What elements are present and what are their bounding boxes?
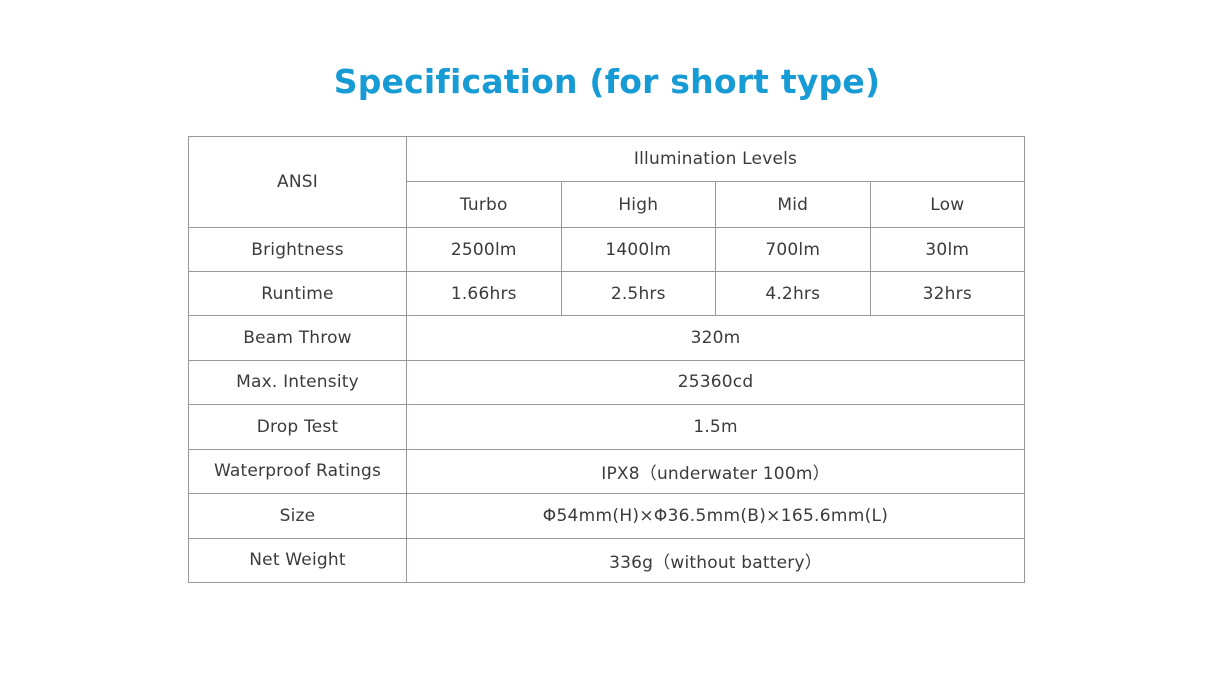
specification-page: Specification (for short type) ANSI Illu… — [0, 0, 1214, 683]
runtime-mid: 4.2hrs — [716, 272, 871, 316]
row-label-brightness: Brightness — [189, 228, 407, 272]
value-waterproof-ratings: IPX8（underwater 100m） — [407, 449, 1025, 494]
table-row: Brightness 2500lm 1400lm 700lm 30lm — [189, 228, 1025, 272]
value-net-weight: 336g（without battery） — [407, 538, 1025, 583]
table-row: ANSI Illumination Levels — [189, 137, 1025, 182]
page-title: Specification (for short type) — [0, 62, 1214, 101]
row-label-drop-test: Drop Test — [189, 405, 407, 450]
runtime-high: 2.5hrs — [561, 272, 716, 316]
brightness-high: 1400lm — [561, 228, 716, 272]
row-label-size: Size — [189, 494, 407, 539]
row-label-waterproof-ratings: Waterproof Ratings — [189, 449, 407, 494]
row-label-max-intensity: Max. Intensity — [189, 360, 407, 405]
table-row: Size Φ54mm(H)×Φ36.5mm(B)×165.6mm(L) — [189, 494, 1025, 539]
row-label-net-weight: Net Weight — [189, 538, 407, 583]
ansi-header-cell: ANSI — [189, 137, 407, 228]
level-header-turbo: Turbo — [407, 182, 562, 228]
brightness-low: 30lm — [870, 228, 1025, 272]
row-label-beam-throw: Beam Throw — [189, 316, 407, 361]
brightness-mid: 700lm — [716, 228, 871, 272]
value-size: Φ54mm(H)×Φ36.5mm(B)×165.6mm(L) — [407, 494, 1025, 539]
value-max-intensity: 25360cd — [407, 360, 1025, 405]
table-row: Beam Throw 320m — [189, 316, 1025, 361]
runtime-low: 32hrs — [870, 272, 1025, 316]
table-row: Net Weight 336g（without battery） — [189, 538, 1025, 583]
table-row: Drop Test 1.5m — [189, 405, 1025, 450]
specification-table: ANSI Illumination Levels Turbo High Mid … — [188, 136, 1025, 583]
value-beam-throw: 320m — [407, 316, 1025, 361]
level-header-mid: Mid — [716, 182, 871, 228]
level-header-low: Low — [870, 182, 1025, 228]
level-header-high: High — [561, 182, 716, 228]
brightness-turbo: 2500lm — [407, 228, 562, 272]
row-label-runtime: Runtime — [189, 272, 407, 316]
value-drop-test: 1.5m — [407, 405, 1025, 450]
table-row: Max. Intensity 25360cd — [189, 360, 1025, 405]
illumination-levels-header-cell: Illumination Levels — [407, 137, 1025, 182]
runtime-turbo: 1.66hrs — [407, 272, 562, 316]
table-row: Waterproof Ratings IPX8（underwater 100m） — [189, 449, 1025, 494]
table-row: Runtime 1.66hrs 2.5hrs 4.2hrs 32hrs — [189, 272, 1025, 316]
